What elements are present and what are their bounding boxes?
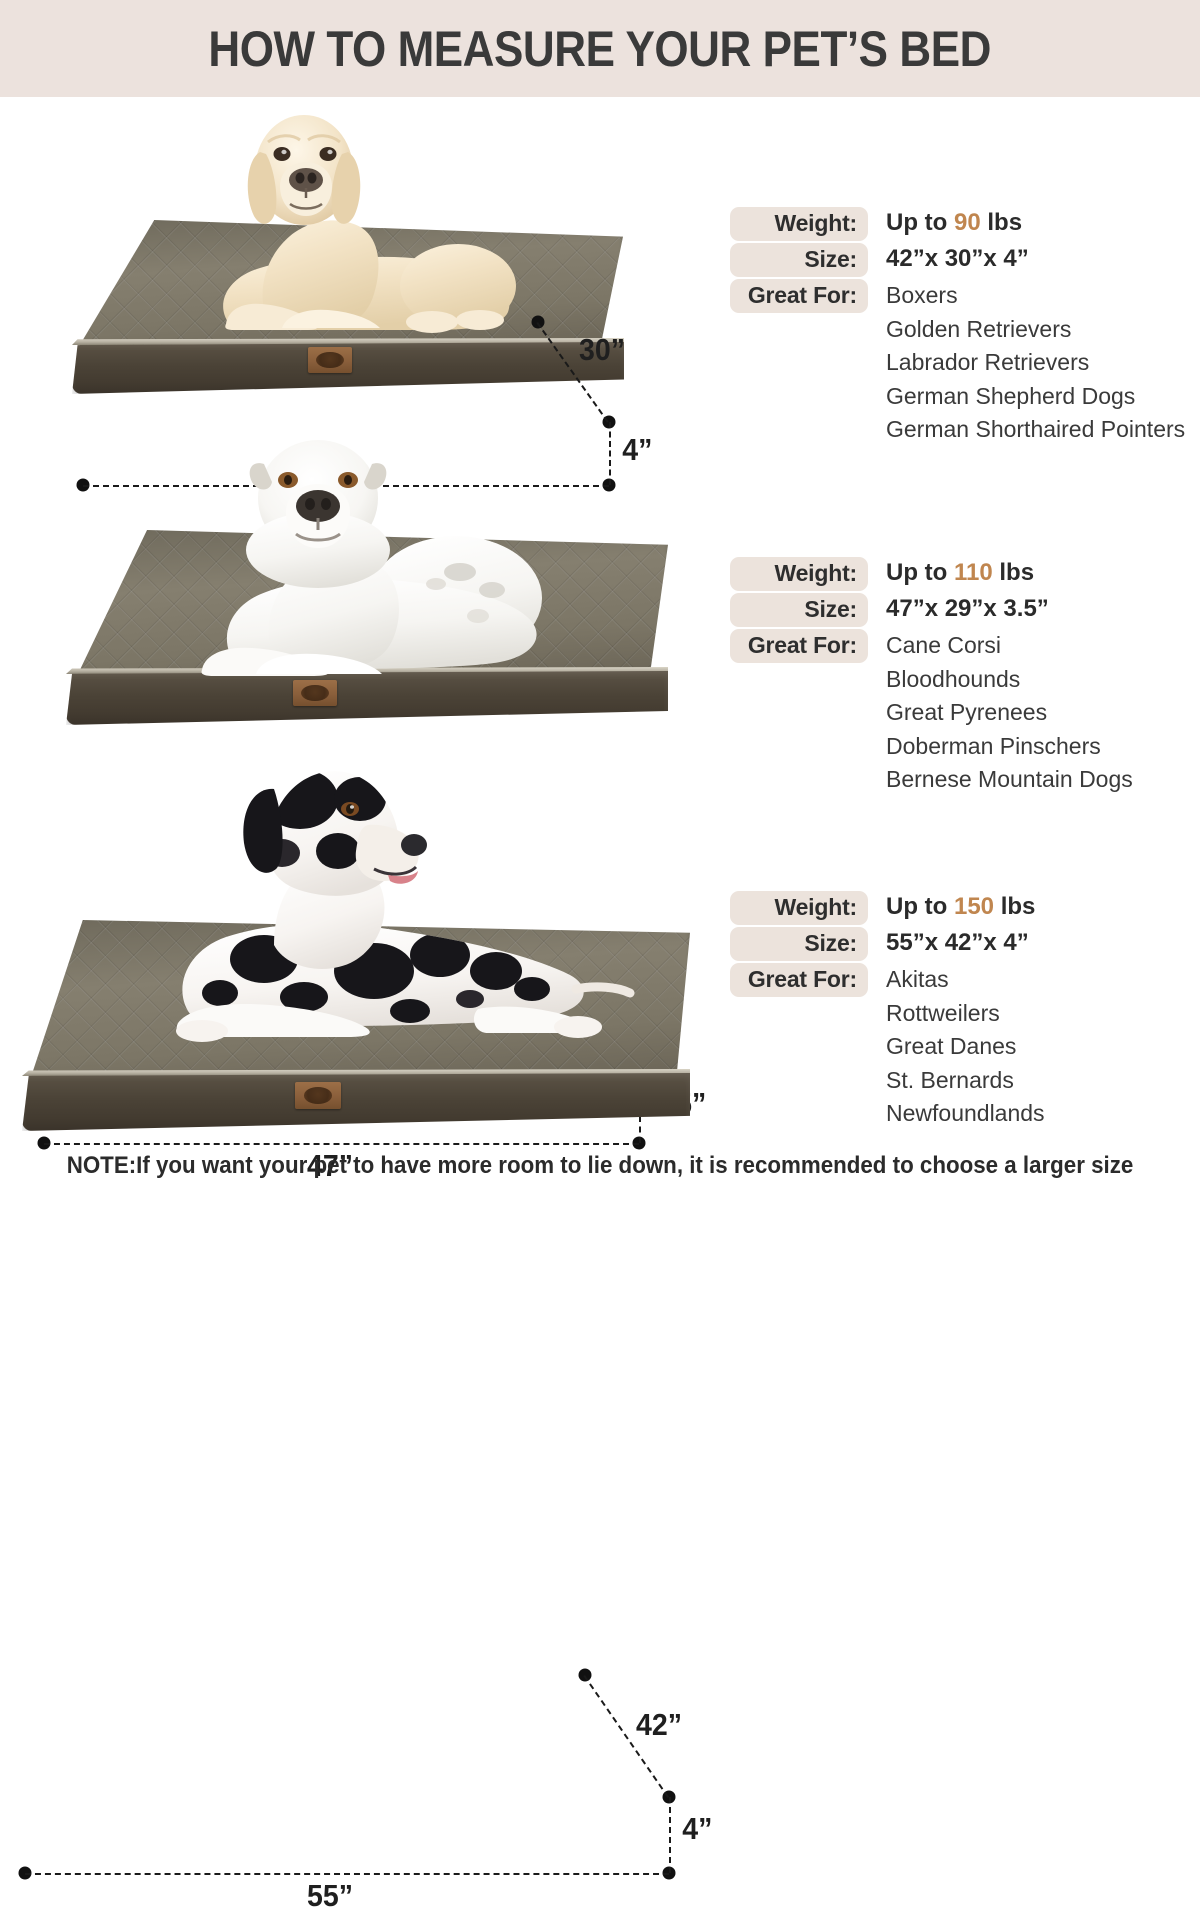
bed-illustration-xlarge: 29” 3.5” 47” (0, 420, 720, 765)
size-value: 42”x 30”x 4” (868, 243, 1029, 275)
size-label-chip: Size: (730, 927, 868, 961)
brand-emblem-icon (304, 1087, 333, 1104)
size-row: Size: 42”x 30”x 4” (730, 243, 1200, 277)
dim-label-depth: 42” (636, 1707, 682, 1743)
weight-row: Weight: Up to 150 lbs (730, 891, 1200, 925)
dog-labrador-retriever (182, 108, 542, 338)
dim-label-depth: 30” (579, 332, 625, 368)
weight-label-chip: Weight: (730, 557, 868, 591)
bed-side-panel (22, 1073, 690, 1131)
weight-number: 90 (954, 209, 981, 236)
great-for-label-chip: Great For: (730, 963, 868, 997)
dog-central-asian-shepherd (160, 430, 580, 690)
brand-emblem-icon (316, 352, 343, 368)
page-title: HOW TO MEASURE YOUR PET’S BED (209, 20, 992, 78)
header-band: HOW TO MEASURE YOUR PET’S BED (0, 0, 1200, 97)
dim-label-height: 4” (682, 1811, 712, 1847)
dim-label-width: 55” (307, 1878, 353, 1914)
weight-suffix: lbs (999, 559, 1034, 586)
weight-label-chip: Weight: (730, 207, 868, 241)
dog-great-dane (178, 765, 628, 1065)
great-for-label-chip: Great For: (730, 629, 868, 663)
breed-item: Rottweilers (886, 997, 1045, 1031)
dim-line-height (669, 1797, 671, 1873)
size-row: Size: 55”x 42”x 4” (730, 927, 1200, 961)
weight-value: Up to 150 lbs (868, 891, 1035, 923)
dim-line-width (25, 1873, 669, 1875)
size-label-chip: Size: (730, 593, 868, 627)
weight-row: Weight: Up to 110 lbs (730, 557, 1200, 591)
breed-item: Golden Retrievers (886, 313, 1185, 347)
weight-label-chip: Weight: (730, 891, 868, 925)
size-row: Size: 47”x 29”x 3.5” (730, 593, 1200, 627)
bed-illustration-large: 30” 4” 42” (0, 100, 720, 420)
size-value: 47”x 29”x 3.5” (868, 593, 1049, 625)
size-value: 55”x 42”x 4” (868, 927, 1029, 959)
weight-row: Weight: Up to 90 lbs (730, 207, 1200, 241)
size-label-chip: Size: (730, 243, 868, 277)
breed-item: Akitas (886, 963, 1045, 997)
great-for-label-chip: Great For: (730, 279, 868, 313)
weight-prefix: Up to (886, 559, 947, 586)
bed-illustration-jumbo: 42” 4” 55” (0, 765, 720, 1155)
brand-logo-tag (308, 347, 352, 373)
breed-item: Boxers (886, 279, 1185, 313)
weight-value: Up to 110 lbs (868, 557, 1034, 589)
breed-item: Great Pyrenees (886, 696, 1133, 730)
info-panel-xlarge: Weight: Up to 110 lbs Size: 47”x 29”x 3.… (730, 557, 1200, 799)
breed-item: St. Bernards (886, 1064, 1045, 1098)
breed-item: Cane Corsi (886, 629, 1133, 663)
size-section-xlarge: 29” 3.5” 47” Weight: Up to 110 lbs Size:… (0, 420, 1200, 765)
weight-number: 110 (954, 559, 993, 586)
brand-logo-tag (295, 1082, 341, 1109)
size-section-large: 30” 4” 42” Weight: Up to 90 lbs Size: 42… (0, 100, 1200, 420)
breed-list: Akitas Rottweilers Great Danes St. Berna… (868, 963, 1045, 1131)
weight-number: 150 (954, 893, 994, 920)
breed-item: Great Danes (886, 1030, 1045, 1064)
breed-item: Newfoundlands (886, 1097, 1045, 1131)
info-panel-jumbo: Weight: Up to 150 lbs Size: 55”x 42”x 4”… (730, 891, 1200, 1133)
size-section-jumbo: 42” 4” 55” Weight: Up to 150 lbs Size: 5… (0, 765, 1200, 1155)
breed-item: Doberman Pinschers (886, 730, 1133, 764)
footer-note: NOTE:If you want your pet to have more r… (42, 1152, 1158, 1180)
weight-prefix: Up to (886, 209, 947, 236)
breed-item: Bloodhounds (886, 663, 1133, 697)
weight-prefix: Up to (886, 893, 947, 920)
weight-suffix: lbs (987, 209, 1022, 236)
breed-item: Labrador Retrievers (886, 346, 1185, 380)
weight-suffix: lbs (1001, 893, 1036, 920)
info-panel-large: Weight: Up to 90 lbs Size: 42”x 30”x 4” … (730, 207, 1200, 449)
great-for-row: Great For: Akitas Rottweilers Great Dane… (730, 963, 1200, 1131)
breed-item: German Shepherd Dogs (886, 380, 1185, 414)
weight-value: Up to 90 lbs (868, 207, 1022, 239)
